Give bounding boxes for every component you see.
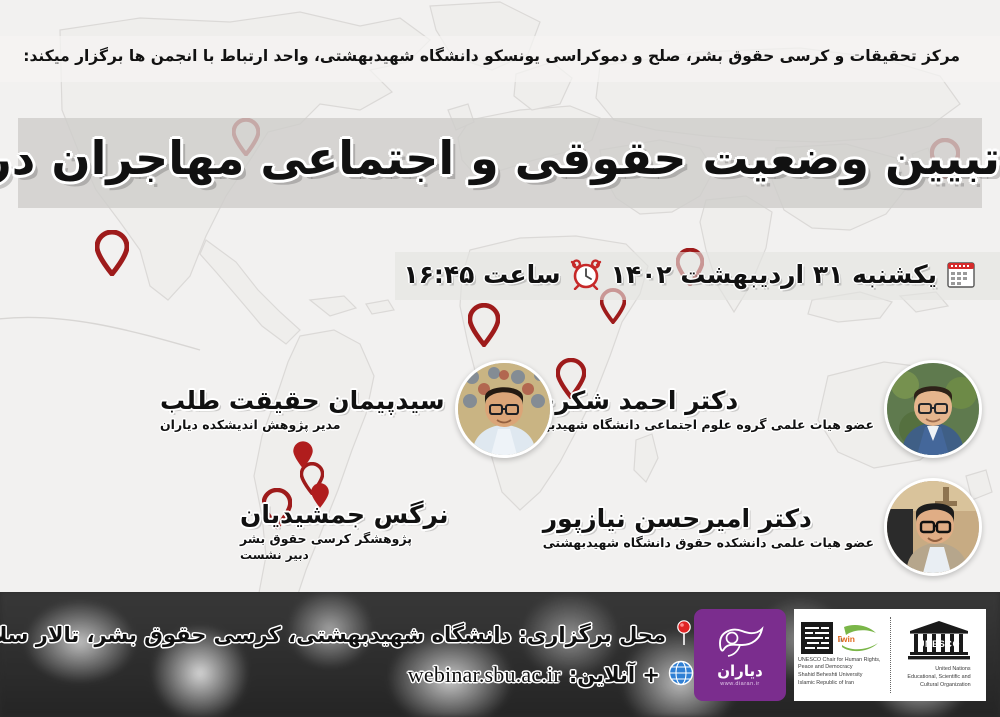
speaker-card: سیدپیمان حقیقت طلب مدیر پژوهش اندیشکده د… bbox=[160, 360, 553, 458]
speaker-photo-ahmad-shekarchi bbox=[884, 360, 982, 458]
svg-text:Twin: Twin bbox=[838, 634, 855, 644]
speaker-name: دکتر امیرحسن نیازپور bbox=[543, 504, 812, 533]
venue-text: محل برگزاری: دانشگاه شهیدبهشتی، کرسی حقو… bbox=[0, 623, 666, 647]
diaran-logo-card: دیاران www.diaran.ir bbox=[694, 609, 786, 701]
alarm-clock-icon bbox=[570, 258, 602, 290]
logo-divider bbox=[889, 617, 891, 693]
speaker-card: دکتر احمد شکرچی عضو هیات علمی گروه علوم … bbox=[512, 360, 982, 458]
speaker-role: عضو هیات علمی گروه علوم اجتماعی دانشگاه … bbox=[512, 417, 874, 432]
svg-text:UNESCO: UNESCO bbox=[918, 639, 960, 649]
speaker-note: دبیر نشست bbox=[240, 548, 309, 562]
speaker-name: سیدپیمان حقیقت طلب bbox=[160, 386, 445, 415]
online-url[interactable]: webinar.sbu.ac.ir bbox=[408, 662, 561, 688]
unesco-chair-caption: UNESCO Chair for Human Rights,Peace and … bbox=[798, 657, 884, 688]
online-row[interactable]: + آنلاین: webinar.sbu.ac.ir bbox=[408, 660, 694, 690]
speaker-name: نرگس جمشیدیان bbox=[240, 500, 449, 529]
speaker-photo-amirhassan-niazpour bbox=[884, 478, 982, 576]
event-poster: مرکز تحقیقات و کرسی حقوق بشر، صلح و دموک… bbox=[0, 0, 1000, 717]
unesco-logo-card: UNESCO United NationsEducational, Scient… bbox=[794, 609, 986, 701]
diaran-bird-icon bbox=[712, 623, 768, 661]
diaran-name: دیاران bbox=[717, 662, 763, 680]
footer-bar: UNESCO United NationsEducational, Scient… bbox=[0, 592, 1000, 717]
logo-group: UNESCO United NationsEducational, Scient… bbox=[694, 609, 986, 701]
diaran-url: www.diaran.ir bbox=[720, 681, 760, 687]
speaker-photo-seyed-peyman-haghighat-talab bbox=[455, 360, 553, 458]
page-title: تبیین وضعیت حقوقی و اجتماعی مهاجران در ا… bbox=[0, 131, 1000, 185]
globe-icon bbox=[668, 660, 694, 690]
speaker-card: نرگس جمشیدیان پژوهشگر کرسی حقوق بشر دبیر… bbox=[240, 500, 449, 562]
unesco-temple-icon: UNESCO bbox=[906, 619, 972, 663]
speaker-role: پژوهشگر کرسی حقوق بشر bbox=[240, 531, 412, 546]
footer-info: محل برگزاری: دانشگاه شهیدبهشتی، کرسی حقو… bbox=[0, 620, 694, 690]
speaker-role: عضو هیات علمی دانشکده حقوق دانشگاه شهیدب… bbox=[543, 535, 874, 550]
speaker-role: مدیر پژوهش اندیشکده دیاران bbox=[160, 417, 341, 432]
unitwin-logo-icon: uni Twin bbox=[838, 623, 884, 653]
location-pin-icon bbox=[674, 620, 694, 650]
event-date: یکشنبه ۳۱ اردیبهشت ۱۴۰۲ bbox=[611, 260, 937, 289]
event-time: ساعت ۱۶:۴۵ bbox=[403, 260, 560, 289]
shahid-beheshti-university-logo-icon bbox=[801, 622, 833, 654]
datetime-row: یکشنبه ۳۱ اردیبهشت ۱۴۰۲ ساعت ۱۶:۴۵ bbox=[403, 258, 976, 290]
venue-row: محل برگزاری: دانشگاه شهیدبهشتی، کرسی حقو… bbox=[0, 620, 694, 650]
calendar-icon bbox=[946, 259, 976, 289]
organizer-line: مرکز تحقیقات و کرسی حقوق بشر، صلح و دموک… bbox=[0, 45, 960, 68]
online-label: + آنلاین: bbox=[569, 663, 660, 687]
speaker-card: دکتر امیرحسن نیازپور عضو هیات علمی دانشک… bbox=[543, 478, 982, 576]
unesco-caption: United NationsEducational, Scientific an… bbox=[907, 666, 970, 689]
